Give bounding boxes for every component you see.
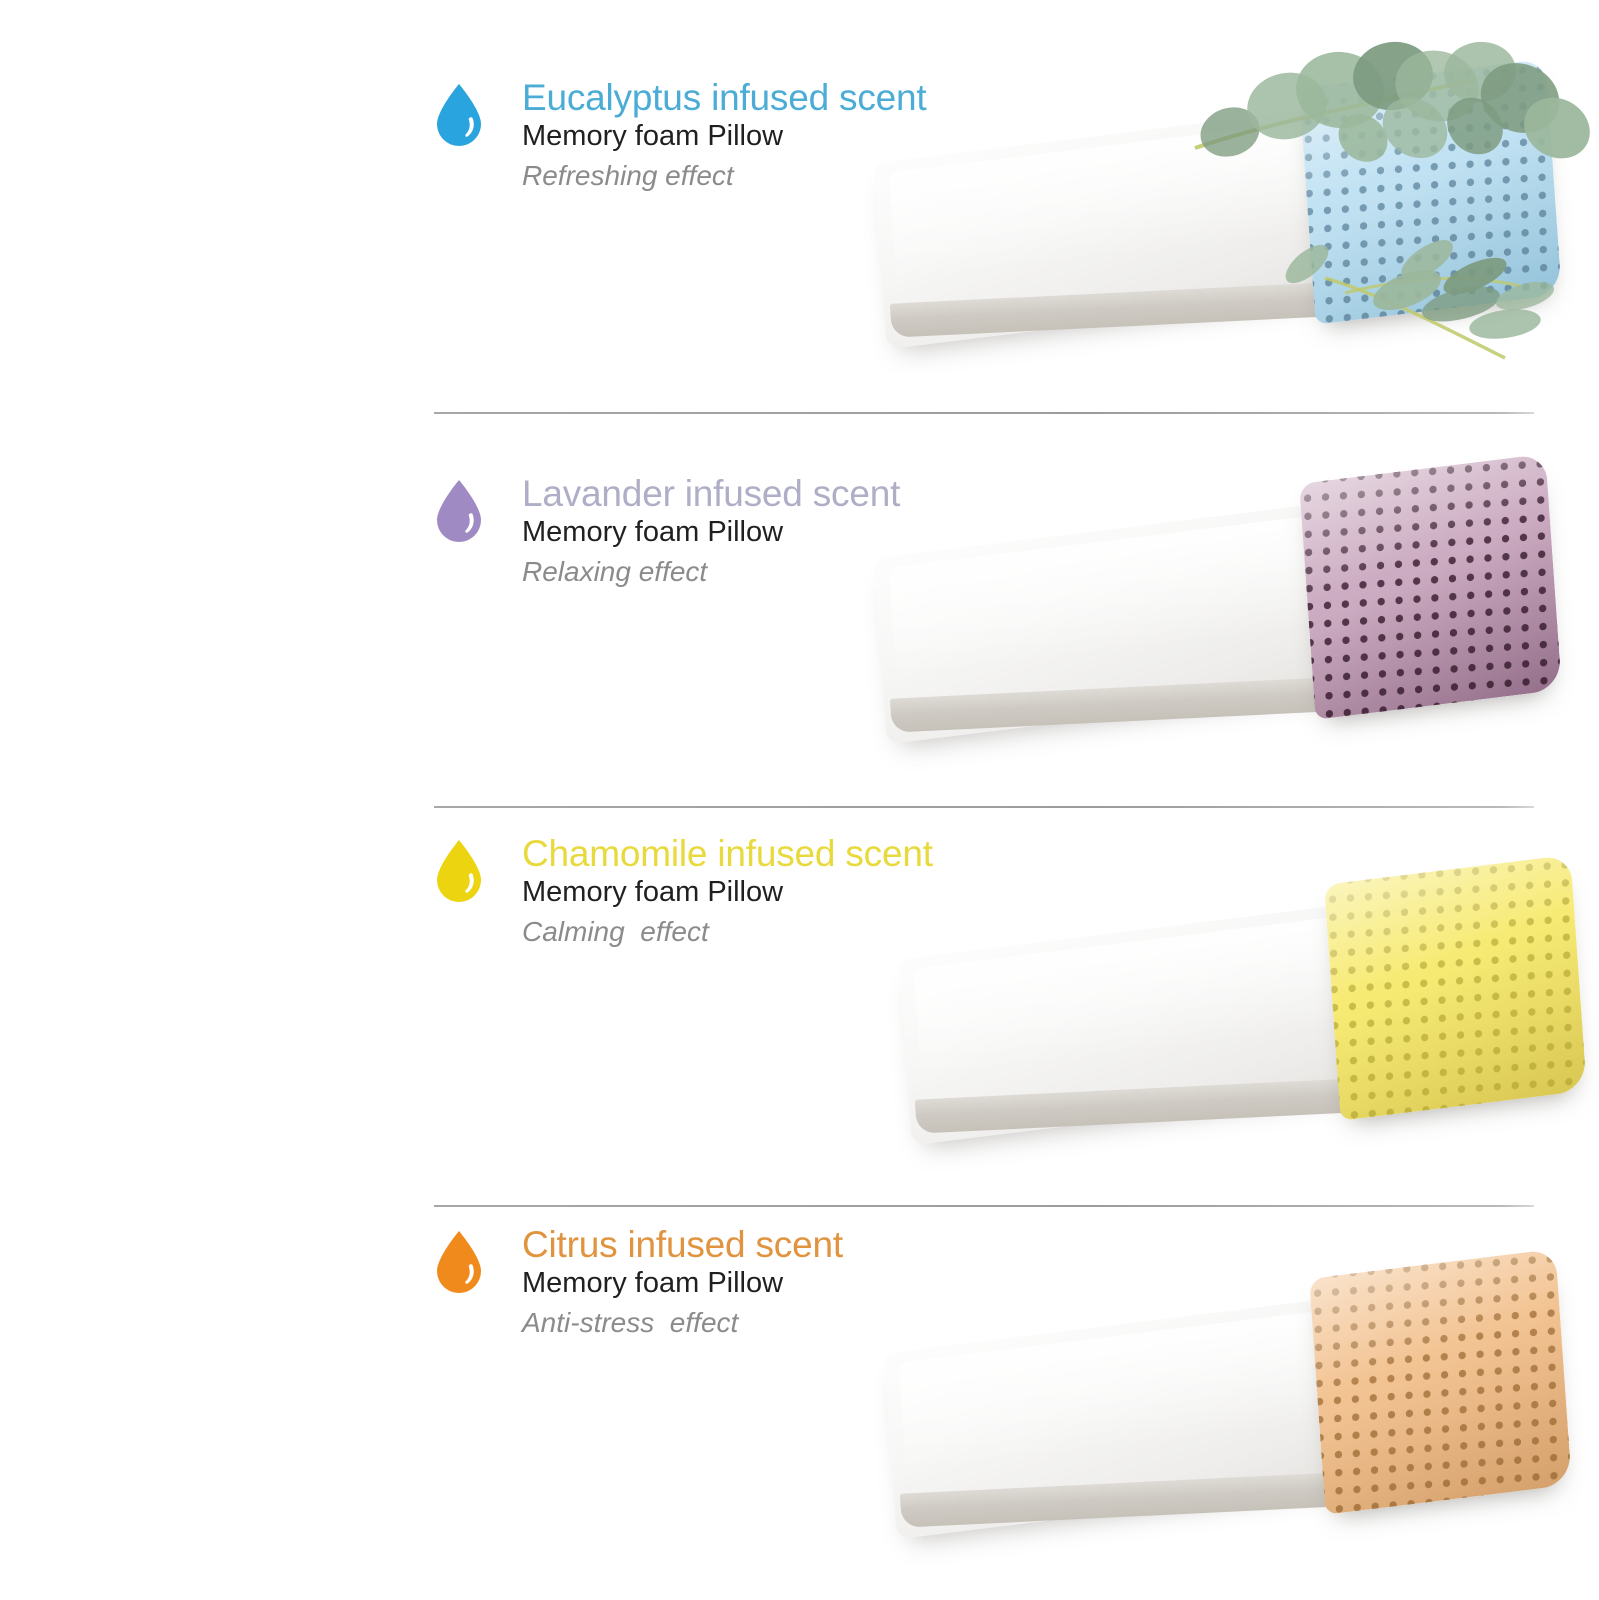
effect-description: Anti-stress effect bbox=[522, 1305, 843, 1341]
pillow-foam-block bbox=[1299, 59, 1562, 325]
infographic-page: Eucalyptus infused scent Memory foam Pil… bbox=[0, 0, 1599, 1600]
scent-title: Citrus infused scent bbox=[522, 1225, 843, 1264]
scent-panel-lavender: Lavander infused scent Memory foam Pillo… bbox=[0, 412, 1599, 806]
scent-title: Lavander infused scent bbox=[522, 474, 900, 513]
product-name: Memory foam Pillow bbox=[522, 875, 933, 910]
effect-description: Calming effect bbox=[522, 914, 933, 950]
pillow-image-lavender bbox=[880, 490, 1540, 790]
water-drop-icon bbox=[434, 834, 506, 902]
water-drop-icon bbox=[434, 78, 506, 146]
scent-text-block-chamomile: Chamomile infused scent Memory foam Pill… bbox=[434, 834, 933, 950]
effect-description: Refreshing effect bbox=[522, 158, 927, 194]
scent-text-block-citrus: Citrus infused scent Memory foam Pillow … bbox=[434, 1225, 843, 1341]
scent-title: Eucalyptus infused scent bbox=[522, 78, 927, 117]
pillow-foam-block bbox=[1309, 1249, 1572, 1515]
pillow-foam-block bbox=[1299, 454, 1562, 720]
water-drop-icon bbox=[434, 474, 506, 542]
scent-text-block-eucalyptus: Eucalyptus infused scent Memory foam Pil… bbox=[434, 78, 927, 194]
scent-panel-eucalyptus: Eucalyptus infused scent Memory foam Pil… bbox=[0, 0, 1599, 412]
scent-text-block-lavender: Lavander infused scent Memory foam Pillo… bbox=[434, 474, 900, 590]
panel-divider bbox=[434, 806, 1534, 808]
pillow-image-chamomile bbox=[905, 891, 1565, 1191]
product-name: Memory foam Pillow bbox=[522, 119, 927, 154]
panel-divider bbox=[434, 1205, 1534, 1207]
effect-description: Relaxing effect bbox=[522, 554, 900, 590]
pillow-image-citrus bbox=[890, 1285, 1550, 1585]
scent-panel-citrus: Citrus infused scent Memory foam Pillow … bbox=[0, 1205, 1599, 1600]
scent-title: Chamomile infused scent bbox=[522, 834, 933, 873]
product-name: Memory foam Pillow bbox=[522, 1266, 843, 1301]
product-name: Memory foam Pillow bbox=[522, 515, 900, 550]
scent-panel-chamomile: Chamomile infused scent Memory foam Pill… bbox=[0, 806, 1599, 1205]
pillow-image-eucalyptus bbox=[880, 95, 1540, 395]
water-drop-icon bbox=[434, 1225, 506, 1293]
pillow-foam-block bbox=[1324, 855, 1587, 1121]
panel-divider bbox=[434, 412, 1534, 414]
